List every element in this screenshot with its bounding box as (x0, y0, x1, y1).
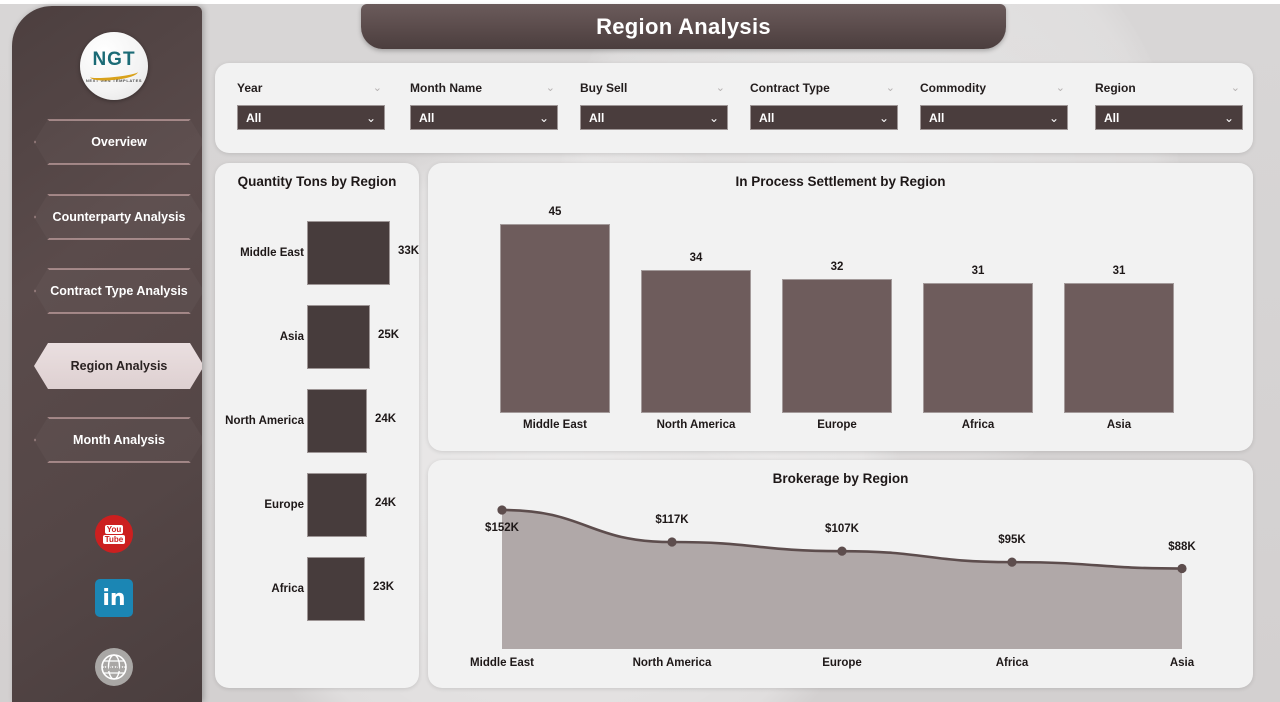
youtube-icon[interactable]: You Tube (94, 514, 134, 554)
column-category-label: Asia (1064, 419, 1174, 431)
slicer-dropdown-year[interactable]: All ⌄ (237, 105, 385, 130)
column-rect[interactable] (641, 270, 751, 413)
column-rect[interactable] (923, 283, 1033, 413)
data-point-marker[interactable] (1177, 564, 1186, 573)
slicer-value: All (589, 111, 604, 125)
slicer-header: Month Name ⌄ (410, 79, 558, 97)
chevron-down-icon: ⌄ (879, 112, 889, 124)
sidebar-item-label: Contract Type Analysis (50, 284, 188, 298)
column-rect[interactable] (1064, 283, 1174, 413)
chevron-down-icon[interactable]: ⌄ (886, 83, 895, 94)
point-category-label: Middle East (447, 657, 557, 669)
youtube-badge: You Tube (95, 515, 133, 553)
chart-title: Quantity Tons by Region (215, 174, 419, 189)
bar-value-label: 33K (398, 245, 419, 257)
linkedin-badge: in (95, 579, 133, 617)
sidebar-item-label: Month Analysis (73, 433, 165, 447)
slicer-dropdown-buy-sell[interactable]: All ⌄ (580, 105, 728, 130)
bar-rect[interactable] (307, 221, 390, 285)
column-value-label: 32 (782, 261, 892, 273)
slicer-header: Buy Sell ⌄ (580, 79, 728, 97)
slicer-commodity: Commodity ⌄ All ⌄ (920, 79, 1068, 130)
bar-row[interactable]: Europe24K (215, 473, 419, 537)
column-category-label: North America (641, 419, 751, 431)
slicer-value: All (759, 111, 774, 125)
point-value-label: $152K (457, 522, 547, 534)
bar-category-label: Middle East (219, 247, 304, 259)
bar-row[interactable]: Asia25K (215, 305, 419, 369)
slicer-dropdown-region[interactable]: All ⌄ (1095, 105, 1243, 130)
globe-glyph: www (99, 652, 129, 682)
bar-rect[interactable] (307, 305, 370, 369)
youtube-label-top: You (105, 525, 124, 534)
chevron-down-icon: ⌄ (1224, 112, 1234, 124)
bar-category-label: Africa (219, 583, 304, 595)
point-value-label: $117K (627, 514, 717, 526)
slicer-value: All (246, 111, 261, 125)
chevron-down-icon[interactable]: ⌄ (1231, 83, 1240, 94)
bar-value-label: 25K (378, 329, 399, 341)
column-value-label: 31 (1064, 265, 1174, 277)
slicer-header: Commodity ⌄ (920, 79, 1068, 97)
column-value-label: 45 (500, 206, 610, 218)
point-value-label: $95K (967, 534, 1057, 546)
slicer-label: Contract Type (750, 81, 830, 95)
website-icon[interactable]: www (94, 647, 134, 687)
chart-in-process-settlement-by-region: In Process Settlement by Region 45Middle… (428, 163, 1253, 451)
slicer-label: Region (1095, 81, 1136, 95)
sidebar: NGT NEXT GEN TEMPLATES Overview Counterp… (12, 6, 202, 702)
slicer-dropdown-month-name[interactable]: All ⌄ (410, 105, 558, 130)
bar-row[interactable]: Africa23K (215, 557, 419, 621)
bar-rect[interactable] (307, 557, 365, 621)
sidebar-item-contract-type-analysis[interactable]: Contract Type Analysis (34, 268, 202, 314)
point-value-label: $107K (797, 523, 887, 535)
slicer-value: All (1104, 111, 1119, 125)
chart-quantity-tons-by-region: Quantity Tons by Region Middle East33KAs… (215, 163, 419, 688)
bar-value-label: 24K (375, 413, 396, 425)
page-title: Region Analysis (361, 4, 1006, 49)
column-value-label: 34 (641, 252, 751, 264)
slicer-dropdown-commodity[interactable]: All ⌄ (920, 105, 1068, 130)
bar-row[interactable]: North America24K (215, 389, 419, 453)
data-point-marker[interactable] (497, 505, 506, 514)
bar-rect[interactable] (307, 473, 367, 537)
bar-category-label: Europe (219, 499, 304, 511)
slicer-header: Year ⌄ (237, 79, 385, 97)
sidebar-item-label: Region Analysis (71, 359, 168, 373)
dashboard-root: NGT NEXT GEN TEMPLATES Overview Counterp… (0, 0, 1280, 702)
slicer-region: Region ⌄ All ⌄ (1095, 79, 1243, 130)
chart-brokerage-by-region: Brokerage by Region $152KMiddle East$117… (428, 460, 1253, 688)
slicer-year: Year ⌄ All ⌄ (237, 79, 385, 130)
sidebar-item-overview[interactable]: Overview (34, 119, 202, 165)
slicer-value: All (419, 111, 434, 125)
column-category-label: Africa (923, 419, 1033, 431)
chevron-down-icon: ⌄ (539, 112, 549, 124)
point-category-label: Africa (957, 657, 1067, 669)
slicer-label: Commodity (920, 81, 986, 95)
bar-category-label: North America (219, 415, 304, 427)
chevron-down-icon: ⌄ (1049, 112, 1059, 124)
linkedin-icon[interactable]: in (94, 578, 134, 618)
bar-category-label: Asia (219, 331, 304, 343)
slicer-dropdown-contract-type[interactable]: All ⌄ (750, 105, 898, 130)
slicer-header: Region ⌄ (1095, 79, 1243, 97)
data-point-marker[interactable] (667, 537, 676, 546)
slicer-month-name: Month Name ⌄ All ⌄ (410, 79, 558, 130)
chevron-down-icon[interactable]: ⌄ (373, 83, 382, 94)
point-category-label: North America (617, 657, 727, 669)
point-category-label: Europe (787, 657, 897, 669)
slicer-label: Buy Sell (580, 81, 627, 95)
sidebar-item-month-analysis[interactable]: Month Analysis (34, 417, 202, 463)
data-point-marker[interactable] (837, 547, 846, 556)
logo-text: NGT (92, 50, 135, 69)
chevron-down-icon[interactable]: ⌄ (716, 83, 725, 94)
column-category-label: Middle East (500, 419, 610, 431)
page-title-text: Region Analysis (596, 14, 771, 40)
chevron-down-icon[interactable]: ⌄ (546, 83, 555, 94)
bar-value-label: 23K (373, 581, 394, 593)
area-chart-svg (428, 460, 1253, 688)
bar-rect[interactable] (307, 389, 367, 453)
slicer-label: Year (237, 81, 262, 95)
youtube-label-bottom: Tube (103, 535, 126, 544)
slicer-value: All (929, 111, 944, 125)
chevron-down-icon: ⌄ (709, 112, 719, 124)
bar-value-label: 24K (375, 497, 396, 509)
svg-text:www: www (102, 663, 125, 673)
point-value-label: $88K (1137, 541, 1227, 553)
chevron-down-icon: ⌄ (366, 112, 376, 124)
chevron-down-icon[interactable]: ⌄ (1056, 83, 1065, 94)
sidebar-item-region-analysis[interactable]: Region Analysis (34, 343, 202, 389)
globe-badge: www (95, 648, 133, 686)
bar-row[interactable]: Middle East33K (215, 221, 419, 285)
sidebar-item-label: Counterparty Analysis (53, 210, 186, 224)
slicer-buy-sell: Buy Sell ⌄ All ⌄ (580, 79, 728, 130)
data-point-marker[interactable] (1007, 558, 1016, 567)
ngt-logo: NGT NEXT GEN TEMPLATES (80, 32, 148, 100)
sidebar-item-counterparty-analysis[interactable]: Counterparty Analysis (34, 194, 202, 240)
chart-title: In Process Settlement by Region (428, 174, 1253, 189)
column-rect[interactable] (500, 224, 610, 413)
point-category-label: Asia (1127, 657, 1237, 669)
column-value-label: 31 (923, 265, 1033, 277)
slicer-header: Contract Type ⌄ (750, 79, 898, 97)
sidebar-item-label: Overview (91, 135, 147, 149)
column-category-label: Europe (782, 419, 892, 431)
slicer-label: Month Name (410, 81, 482, 95)
column-rect[interactable] (782, 279, 892, 413)
slicer-contract-type: Contract Type ⌄ All ⌄ (750, 79, 898, 130)
filter-bar: Year ⌄ All ⌄ Month Name ⌄ All ⌄ Buy Sell… (215, 63, 1253, 153)
